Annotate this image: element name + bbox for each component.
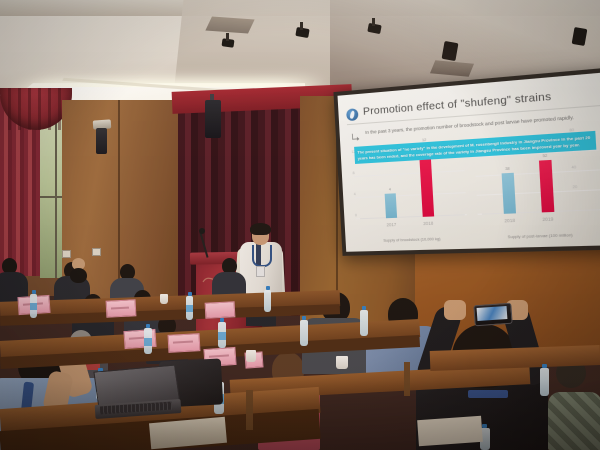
water-bottle[interactable] [264,290,271,312]
microphone-head [199,228,205,234]
water-bottle[interactable] [186,296,193,320]
water-bottle[interactable] [144,328,152,354]
chart-caption: Supply of broodstock (10,000 kg) [383,237,440,243]
paper-cup[interactable] [160,294,168,304]
bar-2017: 4 [385,193,397,218]
y-tick: 4 [354,192,356,196]
projection-screen: Promotion effect of "shufeng" strains In… [333,67,600,256]
name-card [106,299,137,318]
wall-outlet[interactable] [62,250,71,258]
spotlight-arm [226,33,229,41]
x-label: 2018 [504,218,515,224]
x-label: 2019 [542,216,553,222]
y-tick: 8 [353,171,355,175]
photographer2-hand [444,300,466,320]
ceiling-vent [205,16,254,33]
presenter-lanyard [252,245,272,267]
x-label: 2018 [423,221,433,227]
wall-outlet[interactable] [92,248,101,256]
name-card [168,333,201,353]
down-right-arrow-icon [351,132,360,142]
paper-cup[interactable] [246,350,256,362]
bar-value: 38 [505,167,510,172]
y-tick: 40 [571,165,576,170]
bar-2019: 52 [539,160,554,213]
water-bottle[interactable] [218,322,226,348]
wall-speaker-icon [205,100,221,138]
water-bottle[interactable] [300,320,308,346]
chart-caption: Supply of post-larvae (100 million) [508,233,573,239]
x-label: 2017 [386,222,396,227]
spotlight-arm [300,22,303,30]
water-bottle[interactable] [30,294,37,318]
window-mullion [55,118,57,278]
smartphone-screen[interactable] [477,306,508,321]
y-tick: 0 [355,213,357,217]
water-bottle[interactable] [360,310,368,336]
bar-2018: 38 [502,173,516,214]
bar-value: 52 [543,154,548,159]
wall-speaker-icon [96,128,107,154]
water-drop-logo-icon [346,108,358,121]
foreground-shadow [0,380,600,450]
presenter-hair [250,223,271,235]
name-card [205,301,236,319]
projected-slide: Promotion effect of "shufeng" strains In… [338,72,600,252]
bar-value: 4 [389,187,391,191]
y-tick: 20 [572,185,577,190]
presenter-badge [256,266,265,277]
audience-head [70,268,87,283]
conference-room-photo: Promotion effect of "shufeng" strains In… [0,0,600,450]
slide-title: Promotion effect of "shufeng" strains [363,90,552,118]
paper-cup[interactable] [336,356,348,369]
x-axis [360,214,465,219]
